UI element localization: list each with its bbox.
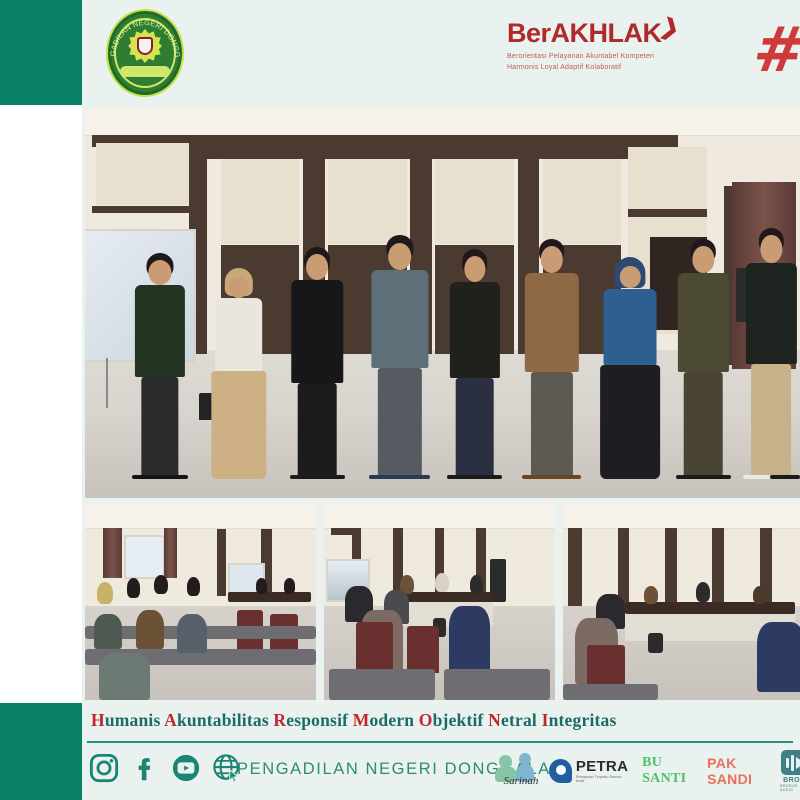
bangga-melayani-bangsa-logo: # bangga melayani bangsa bbox=[754, 16, 800, 86]
bu-santi-logo: BU SANTI bbox=[642, 751, 694, 791]
audience-view-left bbox=[85, 504, 316, 700]
poster-header: PENGADILAN NEGERI DONGGALA BerAKHLAK ❯ B… bbox=[82, 0, 800, 105]
corner-block-top-left bbox=[0, 0, 82, 105]
program-logos: Sarinah PETRA Pelayanan Terpadu Ramah An… bbox=[493, 751, 800, 791]
brodi-subtitle: BROSUR AUDIO bbox=[780, 784, 800, 792]
berakhlak-logo: BerAKHLAK ❯ Berorientasi Pelayanan Akunt… bbox=[507, 20, 687, 82]
petra-logo: PETRA Pelayanan Terpadu Ramah Anak bbox=[549, 751, 629, 791]
person-figure bbox=[443, 245, 507, 479]
footer-divider bbox=[87, 741, 793, 743]
sarinah-logo: Sarinah bbox=[493, 751, 536, 791]
petra-subtitle: Pelayanan Terpadu Ramah Anak bbox=[576, 776, 629, 783]
petra-wordmark: PETRA bbox=[576, 759, 629, 774]
person-figure bbox=[518, 237, 586, 479]
person-figure bbox=[207, 264, 271, 479]
youtube-icon[interactable] bbox=[171, 753, 201, 783]
person-figure bbox=[285, 245, 349, 479]
person-figure bbox=[596, 252, 664, 478]
court-seal-arc-text: PENGADILAN NEGERI DONGGALA bbox=[106, 9, 184, 97]
panel-table-right bbox=[563, 504, 800, 700]
corner-block-bottom-left bbox=[0, 703, 82, 800]
motto-tagline: Humanis Akuntabilitas Responsif Modern O… bbox=[91, 710, 791, 731]
berakhlak-tagline-line2: Harmonis Loyal Adaptif Kolaboratif bbox=[507, 63, 687, 74]
berakhlak-tagline-line1: Berorientasi Pelayanan Akuntabel Kompete… bbox=[507, 52, 687, 63]
poster-footer: Humanis Akuntabilitas Responsif Modern O… bbox=[85, 703, 800, 800]
left-white-strip bbox=[0, 105, 82, 703]
instagram-icon[interactable] bbox=[89, 753, 119, 783]
berakhlak-prefix: Ber bbox=[507, 18, 551, 48]
court-seal-icon: PENGADILAN NEGERI DONGGALA bbox=[106, 9, 184, 97]
person-figure bbox=[671, 237, 735, 479]
panel-table-front bbox=[324, 504, 555, 700]
pak-sandi-logo: PAK SANDI bbox=[707, 751, 767, 791]
berakhlak-tagline: Berorientasi Pelayanan Akuntabel Kompete… bbox=[507, 52, 687, 73]
hashtag-icon: # bbox=[750, 22, 800, 78]
person-figure bbox=[364, 233, 436, 479]
facebook-icon[interactable] bbox=[130, 753, 160, 783]
group-photo-hall bbox=[85, 108, 800, 498]
brodi-play-icon bbox=[781, 750, 800, 775]
sarinah-wordmark: Sarinah bbox=[495, 775, 547, 787]
brodi-logo: BRODI BROSUR AUDIO bbox=[780, 750, 800, 792]
berakhlak-wordmark: BerAKHLAK ❯ bbox=[507, 20, 687, 47]
petra-mark-icon bbox=[549, 759, 572, 783]
svg-text:PENGADILAN NEGERI DONGGALA: PENGADILAN NEGERI DONGGALA bbox=[106, 9, 182, 58]
poster-canvas: PENGADILAN NEGERI DONGGALA BerAKHLAK ❯ B… bbox=[0, 0, 800, 800]
person-figure bbox=[739, 225, 800, 479]
berakhlak-main: AKHLAK bbox=[551, 18, 662, 48]
brodi-wordmark: BRODI bbox=[783, 777, 800, 784]
person-figure bbox=[128, 248, 192, 478]
social-links bbox=[89, 753, 242, 783]
photo-collage bbox=[85, 108, 800, 703]
